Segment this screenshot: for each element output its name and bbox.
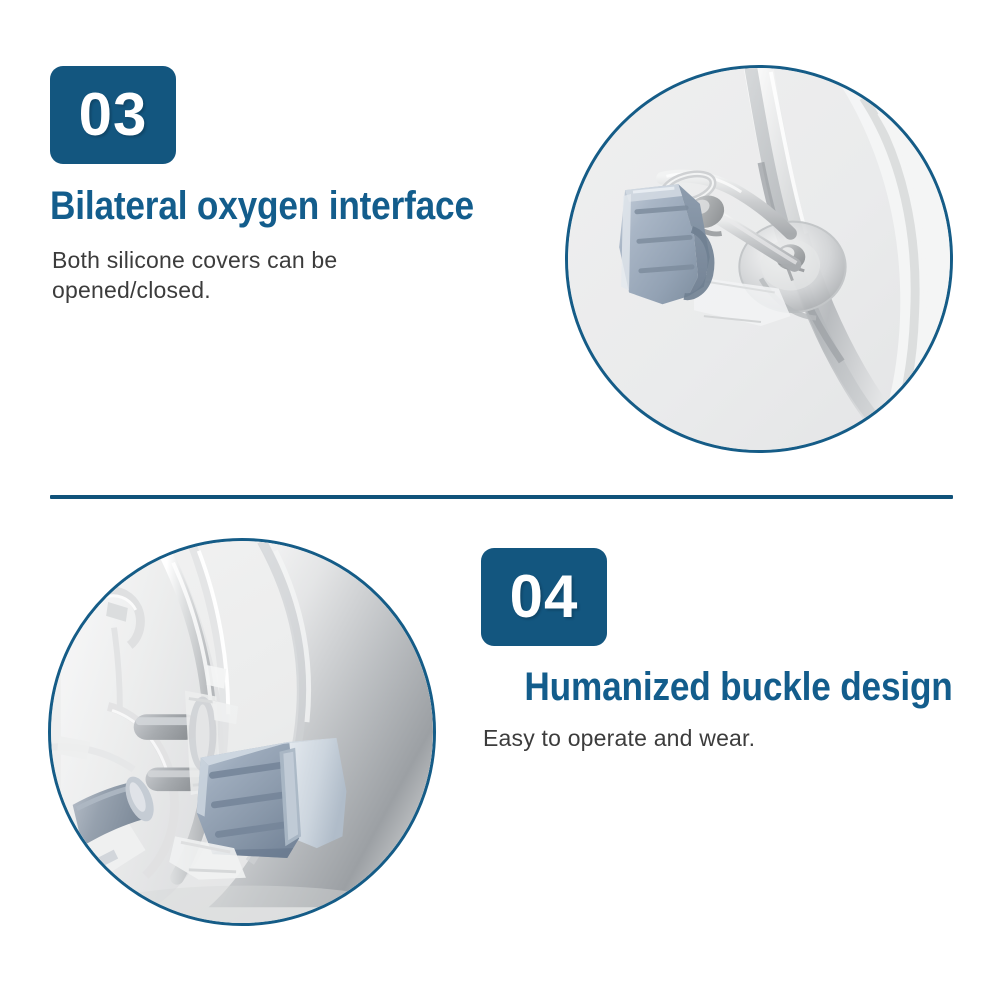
section-03-heading: Bilateral oxygen interface bbox=[50, 185, 474, 227]
product-photo-oxygen-interface bbox=[565, 65, 953, 453]
photo-inner-04 bbox=[51, 541, 433, 923]
section-04-heading: Humanized buckle design bbox=[525, 666, 953, 708]
number-badge-03: 03 bbox=[50, 66, 176, 164]
badge-number-text: 03 bbox=[79, 85, 148, 145]
photo-inner-03 bbox=[568, 68, 950, 450]
section-04-body: Easy to operate and wear. bbox=[483, 723, 755, 753]
mask-buckle-illustration-04 bbox=[51, 541, 433, 923]
section-03-body: Both silicone covers can be opened/close… bbox=[52, 245, 337, 306]
product-photo-buckle-design bbox=[48, 538, 436, 926]
section-03-body-line2: opened/closed. bbox=[52, 275, 337, 305]
mask-buckle-illustration-03 bbox=[568, 68, 950, 450]
section-divider bbox=[50, 495, 953, 499]
number-badge-04: 04 bbox=[481, 548, 607, 646]
infographic-page: 03 Bilateral oxygen interface Both silic… bbox=[0, 0, 1000, 1000]
badge-number-text: 04 bbox=[510, 567, 579, 627]
section-04-body-line1: Easy to operate and wear. bbox=[483, 723, 755, 753]
section-03-body-line1: Both silicone covers can be bbox=[52, 245, 337, 275]
